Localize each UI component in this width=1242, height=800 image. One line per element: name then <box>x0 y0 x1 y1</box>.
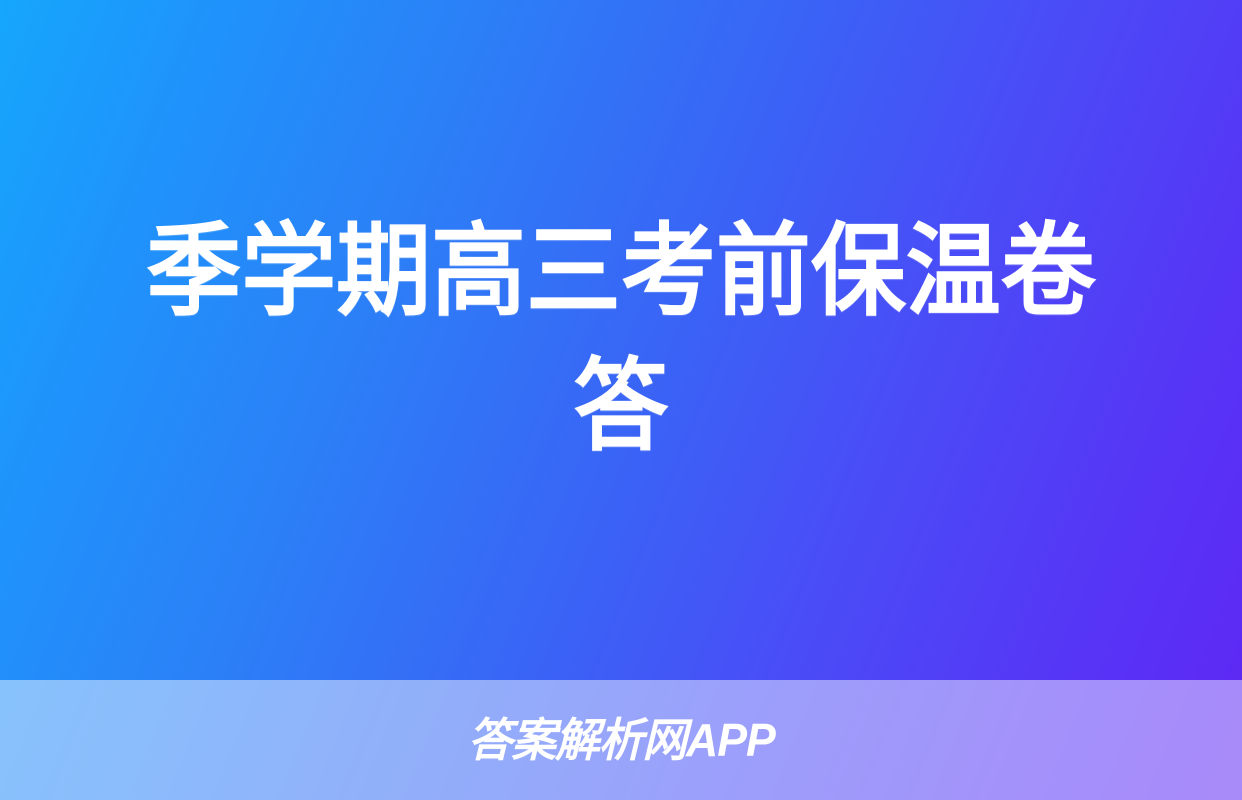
title-line-2: 季学期高三考前保温卷答 <box>112 205 1129 475</box>
watermark-text: 答案解析网APP <box>467 717 774 763</box>
headline-area: 湘豫名校联考 2024届春 季学期高三考前保温卷答 案(数学) <box>0 0 1242 680</box>
footer-band: 答案解析网APP <box>0 680 1242 800</box>
watermark: 答案解析网APP <box>0 680 1242 800</box>
promo-thumbnail-card: 湘豫名校联考 2024届春 季学期高三考前保温卷答 案(数学) 答案解析网APP <box>0 0 1242 800</box>
